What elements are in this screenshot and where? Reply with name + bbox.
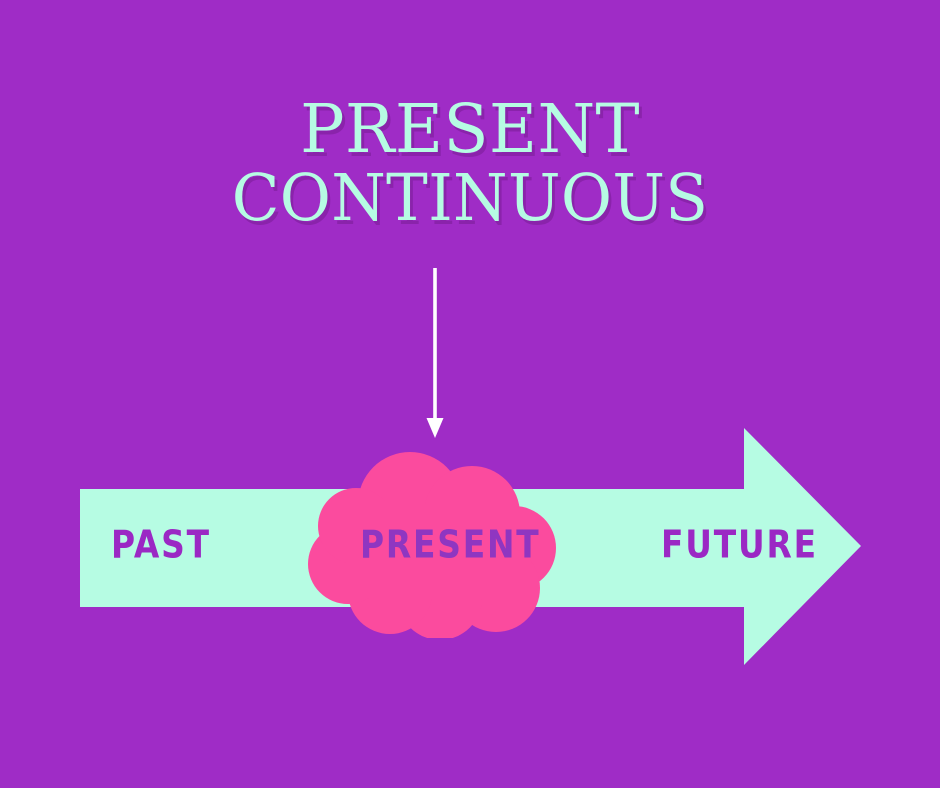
timeline-label-future: FUTURE: [661, 526, 818, 564]
page-title: PRESENT CONTINUOUS: [0, 96, 940, 231]
timeline-label-past: PAST: [111, 526, 211, 564]
title-line-present: PRESENT: [7, 96, 933, 163]
downward-arrow-icon: [424, 268, 446, 440]
poster-canvas: PRESENT CONTINUOUS PAST PRESENT FUTURE: [0, 0, 940, 788]
title-line-continuous: CONTINUOUS: [19, 166, 921, 231]
timeline-label-present: PRESENT: [360, 526, 541, 564]
